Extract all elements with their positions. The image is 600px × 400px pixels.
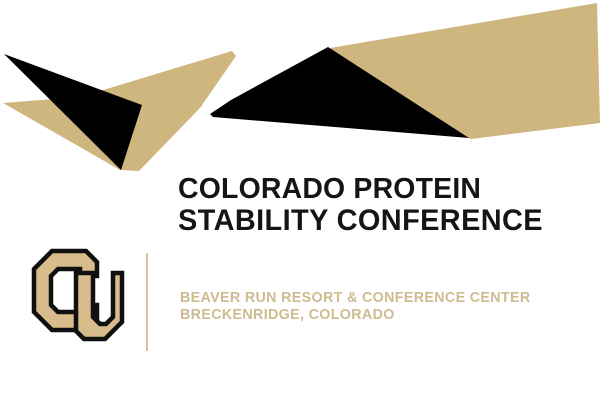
venue-line-2: BRECKENRIDGE, COLORADO bbox=[180, 307, 584, 324]
title-line-2: STABILITY CONFERENCE bbox=[178, 205, 570, 236]
conference-poster: COLORADO PROTEIN STABILITY CONFERENCE BE… bbox=[0, 0, 600, 400]
cu-logo-mark bbox=[30, 247, 126, 344]
venue-line-1: BEAVER RUN RESORT & CONFERENCE CENTER bbox=[180, 290, 584, 307]
mountain-graphic-banner bbox=[0, 0, 600, 180]
venue-info: BEAVER RUN RESORT & CONFERENCE CENTER BR… bbox=[180, 290, 590, 324]
vertical-divider bbox=[146, 253, 148, 351]
cu-logo bbox=[30, 247, 126, 344]
page-title: COLORADO PROTEIN STABILITY CONFERENCE bbox=[178, 174, 578, 236]
title-line-1: COLORADO PROTEIN bbox=[178, 174, 570, 205]
cu-logo-glyphs bbox=[34, 251, 122, 339]
